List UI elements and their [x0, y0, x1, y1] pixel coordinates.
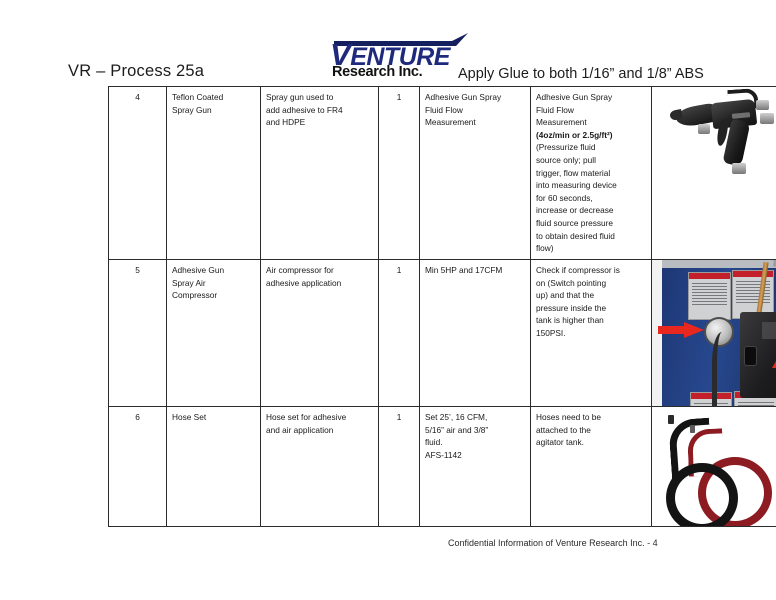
item-quantity-cell: 1 — [379, 406, 420, 526]
item-check-line: agitator tank. — [536, 436, 646, 449]
item-quantity: 1 — [384, 91, 414, 104]
item-check-line: for 60 seconds, — [536, 192, 646, 205]
item-quantity-cell: 1 — [379, 87, 420, 260]
spray-gun-fitting — [760, 113, 774, 124]
item-check-line: fluid source pressure — [536, 217, 646, 230]
item-check-cell: Check if compressor is on (Switch pointi… — [531, 259, 652, 406]
item-check-line: attached to the — [536, 424, 646, 437]
item-spec-line: Fluid Flow — [425, 104, 525, 117]
item-quantity: 1 — [384, 411, 414, 424]
item-spec-line: Set 25’, 16 CFM, — [425, 411, 525, 424]
item-name-line: Teflon Coated — [172, 91, 255, 104]
item-description-line: adhesive application — [266, 277, 373, 290]
item-name-line: Spray Gun — [172, 104, 255, 117]
air-compressor-pressure-switch-photo — [652, 260, 776, 406]
item-check-line: to obtain desired fluid — [536, 230, 646, 243]
page-title: VR – Process 25a — [68, 62, 204, 81]
item-name-cell: Teflon Coated Spray Gun — [167, 87, 261, 260]
equipment-spec-table: 4 Teflon Coated Spray Gun Spray gun used… — [108, 86, 776, 527]
item-description-line: add adhesive to FR4 — [266, 104, 373, 117]
warning-label-text-lines — [689, 279, 730, 309]
spray-gun-fitting — [698, 124, 710, 134]
item-name-cell: Adhesive Gun Spray Air Compressor — [167, 259, 261, 406]
item-quantity: 1 — [384, 264, 414, 277]
item-check-line: on (Switch pointing — [536, 277, 646, 290]
item-spec-line: Adhesive Gun Spray — [425, 91, 525, 104]
item-check-line: source only; pull — [536, 154, 646, 167]
item-check-line: 150PSI. — [536, 327, 646, 340]
logo-subtitle: Research Inc. — [332, 65, 422, 80]
item-spec-cell: Adhesive Gun Spray Fluid Flow Measuremen… — [420, 87, 531, 260]
switch-lever — [744, 346, 757, 366]
item-description-line: Hose set for adhesive — [266, 411, 373, 424]
item-spec-cell: Set 25’, 16 CFM, 5/16” air and 3/8” flui… — [420, 406, 531, 526]
item-description-cell: Hose set for adhesive and air applicatio… — [261, 406, 379, 526]
item-spec-line: fluid. — [425, 436, 525, 449]
item-spec-line: AFS-1142 — [425, 449, 525, 462]
danger-label-text-lines — [735, 398, 776, 406]
item-check-line: Check if compressor is — [536, 264, 646, 277]
black-hose-coil — [666, 463, 738, 526]
item-check-line: tank is higher than — [536, 314, 646, 327]
table-row: 5 Adhesive Gun Spray Air Compressor Air … — [109, 259, 776, 406]
item-check-line: Hoses need to be — [536, 411, 646, 424]
item-spec-line: Min 5HP and 17CFM — [425, 264, 525, 277]
header-instruction-note: Apply Glue to both 1/16” and 1/8” ABS — [458, 66, 704, 82]
item-quantity-cell: 1 — [379, 259, 420, 406]
item-name-line: Hose Set — [172, 411, 255, 424]
item-check-line: trigger, flow material — [536, 167, 646, 180]
row-number: 6 — [114, 411, 161, 424]
item-spec-line: 5/16” air and 3/8” — [425, 424, 525, 437]
spray-gun-illustration — [668, 93, 776, 175]
item-description-line: and HDPE — [266, 116, 373, 129]
item-name-line: Spray Air — [172, 277, 255, 290]
black-hose-fitting — [668, 415, 674, 424]
item-image-cell — [652, 406, 776, 526]
red-arrow-right-icon — [658, 322, 704, 338]
pressure-switch-box — [740, 312, 776, 398]
item-check-line: Measurement — [536, 116, 646, 129]
item-description-line: Spray gun used to — [266, 91, 373, 104]
photo-ceiling-edge — [662, 260, 776, 268]
warning-label-text-lines — [733, 277, 773, 307]
item-check-cell: Adhesive Gun Spray Fluid Flow Measuremen… — [531, 87, 652, 260]
warning-label-plate — [688, 272, 731, 320]
item-image-cell — [652, 259, 776, 406]
red-hose-fitting — [690, 425, 695, 433]
item-spec-line: Measurement — [425, 116, 525, 129]
teflon-coated-spray-gun-photo — [652, 87, 776, 255]
red-arrow-up-icon — [772, 354, 776, 398]
item-check-line: (4oz/min or 2.5g/ft²) — [536, 129, 646, 142]
item-check-line: flow) — [536, 242, 646, 255]
spray-gun-fitting — [732, 163, 746, 174]
item-name-cell: Hose Set — [167, 406, 261, 526]
spray-gun-fitting — [756, 100, 769, 110]
black-hose — [712, 332, 737, 406]
spray-gun-nozzle-tip — [669, 109, 683, 121]
coiled-hoses-illustration — [660, 415, 770, 515]
item-description-line: and air application — [266, 424, 373, 437]
compressor-tank-background — [652, 260, 776, 406]
item-name-line: Adhesive Gun — [172, 264, 255, 277]
item-description-cell: Air compressor for adhesive application — [261, 259, 379, 406]
row-number-cell: 6 — [109, 406, 167, 526]
table-row: 6 Hose Set Hose set for adhesive and air… — [109, 406, 776, 526]
switch-box-nameplate — [762, 322, 776, 339]
item-check-line: Fluid Flow — [536, 104, 646, 117]
row-number-cell: 5 — [109, 259, 167, 406]
item-description-cell: Spray gun used to add adhesive to FR4 an… — [261, 87, 379, 260]
item-image-cell — [652, 87, 776, 260]
item-check-line: pressure inside the — [536, 302, 646, 315]
item-check-line: into measuring device — [536, 179, 646, 192]
item-check-line: up) and that the — [536, 289, 646, 302]
row-number-cell: 4 — [109, 87, 167, 260]
item-name-line: Compressor — [172, 289, 255, 302]
row-number: 5 — [114, 264, 161, 277]
row-number: 4 — [114, 91, 161, 104]
item-check-cell: Hoses need to be attached to the agitato… — [531, 406, 652, 526]
item-check-line: (Pressurize fluid — [536, 141, 646, 154]
hose-set-photo — [652, 407, 776, 526]
confidential-footer: Confidential Information of Venture Rese… — [448, 538, 658, 548]
item-description-line: Air compressor for — [266, 264, 373, 277]
item-spec-cell: Min 5HP and 17CFM — [420, 259, 531, 406]
item-check-line: increase or decrease — [536, 204, 646, 217]
venture-research-logo: VENTURE Research Inc. — [312, 33, 468, 79]
table-row: 4 Teflon Coated Spray Gun Spray gun used… — [109, 87, 776, 260]
item-check-line: Adhesive Gun Spray — [536, 91, 646, 104]
